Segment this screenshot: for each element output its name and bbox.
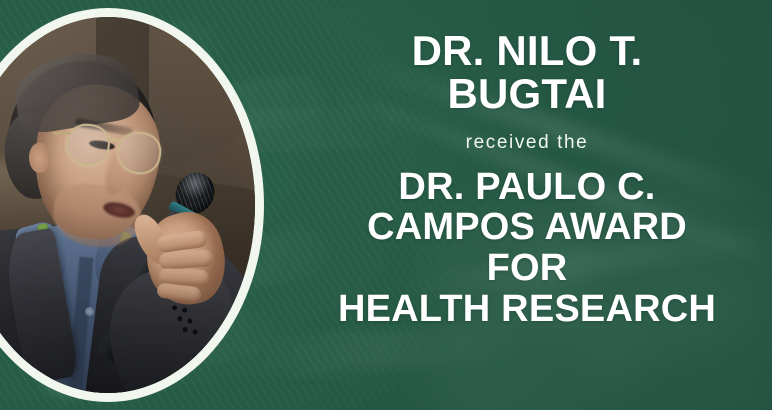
honoree-name: DR. NILO T. BUGTAI [412,30,643,116]
award-title-line3: FOR [338,248,716,289]
photo-glasses-lens-right [114,129,164,177]
award-announcement-card: DR. NILO T. BUGTAI received the DR. PAUL… [0,0,772,410]
photo-glasses-temple [53,132,71,135]
honoree-name-line2: BUGTAI [412,73,643,116]
honoree-name-line1: DR. NILO T. [412,30,643,73]
award-title-line2: CAMPOS AWARD [338,207,716,248]
award-title-line1: DR. PAULO C. [338,167,716,208]
photo-glasses-bridge [109,137,121,142]
portrait-frame [0,8,264,402]
award-title: DR. PAULO C. CAMPOS AWARD FOR HEALTH RES… [338,167,716,330]
photo-glasses-lens-left [63,121,113,169]
award-title-line4: HEALTH RESEARCH [338,289,716,330]
text-column: DR. NILO T. BUGTAI received the DR. PAUL… [282,0,772,410]
portrait-photo [0,17,255,393]
connector-text: received the [466,132,589,154]
